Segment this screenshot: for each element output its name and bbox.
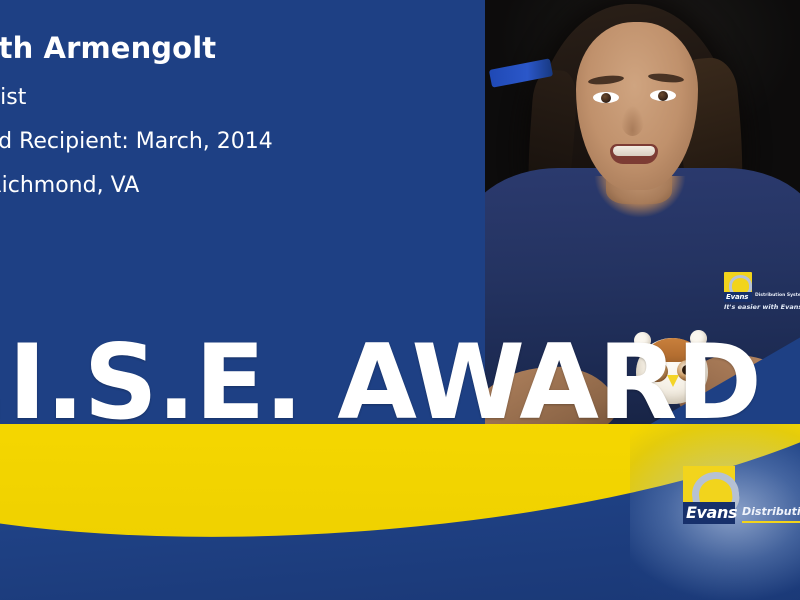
tshirt-evans-logo: Evans Distribution Systems It's easier w…	[724, 272, 786, 310]
tshirt-logo-wordmark: Evans	[726, 293, 748, 301]
yellow-swoosh	[0, 424, 800, 574]
photo-teeth	[613, 146, 655, 156]
tshirt-logo-division: Distribution Systems	[755, 293, 800, 298]
recipient-name: beth Armengolt	[0, 34, 518, 63]
photo-nose	[621, 106, 644, 136]
recipient-details: beth Armengolt eralist ward Recipient: M…	[0, 34, 518, 219]
photo-smile	[610, 144, 658, 164]
evans-logo: Evans Distributio	[683, 466, 800, 536]
award-headline: .I.S.E. AWARD	[0, 332, 761, 435]
recipient-award-date: ward Recipient: March, 2014	[0, 131, 518, 153]
tshirt-logo-tagline: It's easier with Evans	[724, 303, 800, 311]
recipient-role: eralist	[0, 87, 518, 109]
evans-division-label: Distributio	[742, 505, 800, 519]
photo-eye-right	[650, 90, 676, 101]
bottom-band	[0, 424, 800, 600]
evans-wordmark: Evans	[686, 504, 737, 522]
evans-division-underline	[742, 521, 800, 523]
photo-face	[576, 22, 698, 190]
tshirt-logo-e-icon	[724, 272, 752, 294]
recipient-location: n: Richmond, VA	[0, 175, 518, 197]
photo-eye-left	[593, 92, 619, 103]
award-slide: Evans Distribution Systems It's easier w…	[0, 0, 800, 600]
